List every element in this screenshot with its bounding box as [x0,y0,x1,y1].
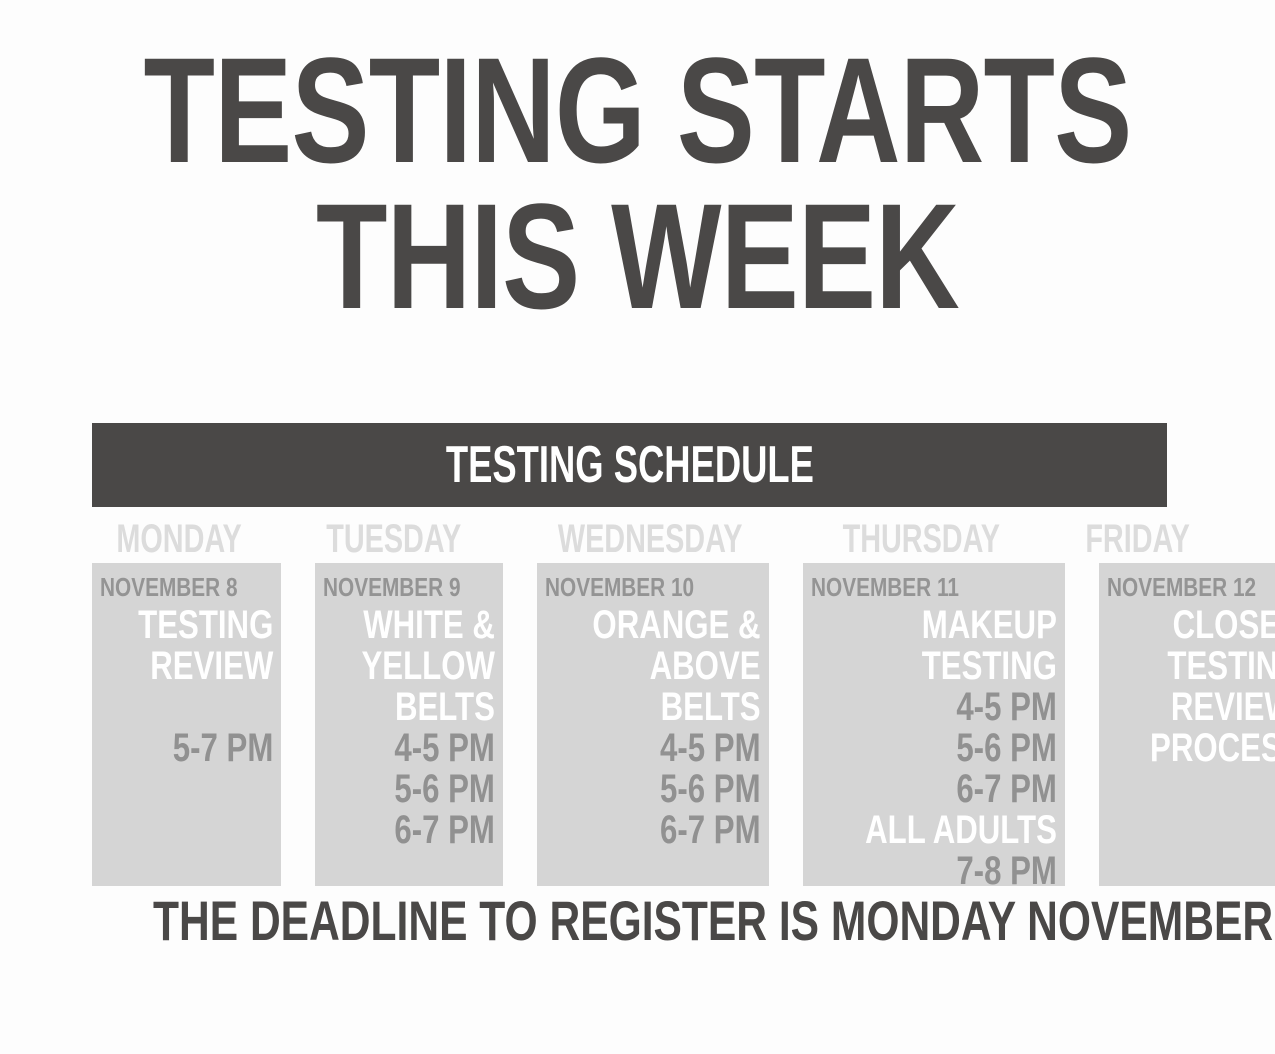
page-title-line-2: THIS WEEK [140,184,1135,330]
schedule-time: 5-7 PM [138,728,273,769]
schedule-time: 5-6 PM [865,728,1057,769]
day-header-tuesday: TUESDAY [326,518,461,560]
column-date-wednesday: NOVEMBER 10 [545,573,717,601]
schedule-label: CLOSED [1150,605,1275,646]
schedule-time: 7-8 PM [865,851,1057,892]
schedule-column-thursday: NOVEMBER 11 MAKEUPTESTING4-5 PM5-6 PM6-7… [803,563,1065,886]
day-header-friday: FRIDAY [1085,518,1190,560]
day-header-wednesday: WEDNESDAY [557,518,742,560]
schedule-time: 4-5 PM [865,687,1057,728]
schedule-column-friday: NOVEMBER 12 CLOSEDTESTINGREVIEW/PROCESS [1099,563,1275,886]
deadline-notice: THE DEADLINE TO REGISTER IS MONDAY NOVEM… [153,893,1122,949]
schedule-time: 5-6 PM [361,769,495,810]
column-lines-friday: CLOSEDTESTINGREVIEW/PROCESS [1107,605,1275,769]
page-title-line-1: TESTING STARTS [140,38,1135,184]
day-header-thursday: THURSDAY [843,518,1000,560]
schedule-label: TESTING [138,605,273,646]
column-date-friday: NOVEMBER 12 [1107,573,1263,601]
schedule-time: 4-5 PM [361,728,495,769]
schedule-time: 4-5 PM [593,728,761,769]
schedule-column-monday: NOVEMBER 8 TESTINGREVIEW 5-7 PM [92,563,281,886]
schedule-label: YELLOW [361,646,495,687]
schedule-time: 6-7 PM [361,810,495,851]
schedule-time: 6-7 PM [865,769,1057,810]
column-lines-monday: TESTINGREVIEW 5-7 PM [100,605,273,769]
schedule-label: WHITE & [361,605,495,646]
schedule-label: REVIEW [138,646,273,687]
schedule-banner: TESTING SCHEDULE [92,423,1167,507]
schedule-label: MAKEUP [865,605,1057,646]
column-date-thursday: NOVEMBER 11 [811,573,1008,601]
page-title: TESTING STARTS THIS WEEK [140,38,1135,329]
column-date-monday: NOVEMBER 8 [100,573,239,601]
schedule-label: ORANGE & [593,605,761,646]
schedule-label: BELTS [361,687,495,728]
schedule-column-wednesday: NOVEMBER 10 ORANGE &ABOVEBELTS4-5 PM5-6 … [537,563,769,886]
schedule-time: 5-6 PM [593,769,761,810]
schedule-spacer [138,687,273,728]
schedule-label: TESTING [1150,646,1275,687]
day-header-monday: MONDAY [116,518,241,560]
column-lines-wednesday: ORANGE &ABOVEBELTS4-5 PM5-6 PM6-7 PM [545,605,761,851]
column-date-tuesday: NOVEMBER 9 [323,573,461,601]
schedule-label: BELTS [593,687,761,728]
schedule-label: REVIEW/ [1150,687,1275,728]
schedule-day-header-row: MONDAY TUESDAY WEDNESDAY THURSDAY FRIDAY [92,518,1167,560]
schedule-time: 6-7 PM [593,810,761,851]
schedule-label: ALL ADULTS [865,810,1057,851]
schedule-label: PROCESS [1150,728,1275,769]
column-lines-tuesday: WHITE &YELLOWBELTS4-5 PM5-6 PM6-7 PM [323,605,495,851]
schedule-columns: NOVEMBER 8 TESTINGREVIEW 5-7 PM NOVEMBER… [92,563,1167,886]
schedule-column-tuesday: NOVEMBER 9 WHITE &YELLOWBELTS4-5 PM5-6 P… [315,563,503,886]
flyer-poster: TESTING STARTS THIS WEEK TESTING SCHEDUL… [0,0,1275,1054]
schedule-banner-title: TESTING SCHEDULE [445,439,813,491]
column-lines-thursday: MAKEUPTESTING4-5 PM5-6 PM6-7 PMALL ADULT… [811,605,1057,892]
schedule-label: ABOVE [593,646,761,687]
schedule-label: TESTING [865,646,1057,687]
